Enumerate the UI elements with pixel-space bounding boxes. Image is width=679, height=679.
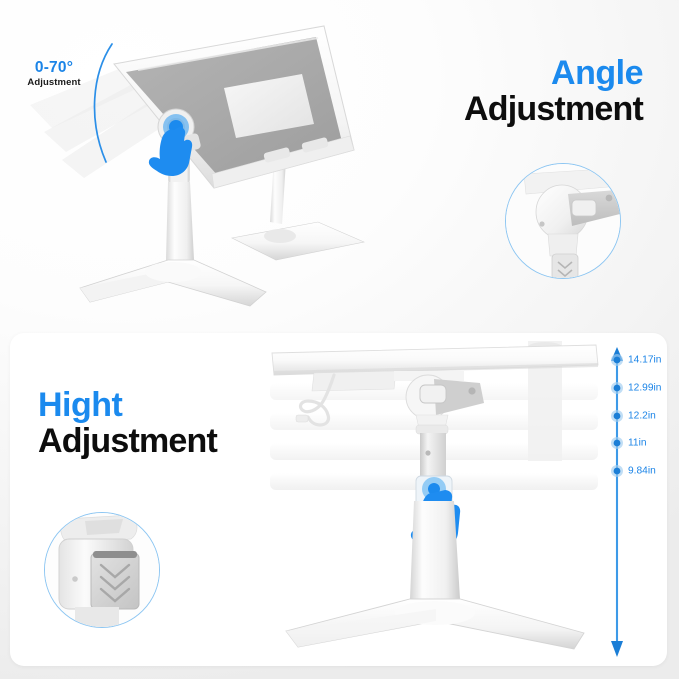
height-heading-accent: Hight — [38, 388, 217, 422]
scale-mark-dot — [606, 436, 628, 450]
scale-mark-label: 11in — [628, 438, 647, 449]
height-clamp-detail-photo — [44, 512, 160, 628]
scale-mark-label: 9.84in — [628, 465, 656, 476]
scale-mark-dot — [606, 409, 628, 423]
height-heading-main: Adjustment — [38, 424, 217, 458]
scale-mark-label: 14.17in — [628, 355, 661, 366]
scale-mark-dot — [606, 353, 628, 367]
scale-mark-dot — [606, 381, 628, 395]
height-adjustment-section: Hight Adjustment — [10, 333, 667, 666]
infographic-root: 0-70° Adjustment Angle Adjustment — [0, 0, 679, 679]
angle-range-label: 0-70° — [14, 60, 94, 76]
angle-heading-main: Adjustment — [464, 92, 643, 126]
height-measurement-scale: 14.17in12.99in12.2in11in9.84in — [606, 341, 667, 663]
angle-range-sublabel: Adjustment — [14, 78, 94, 88]
angle-heading-accent: Angle — [464, 56, 643, 90]
angle-range-callout: 0-70° Adjustment — [14, 60, 94, 88]
angle-adjustment-section: 0-70° Adjustment Angle Adjustment — [0, 0, 679, 332]
height-heading: Hight Adjustment — [38, 388, 217, 458]
scale-mark-label: 12.2in — [628, 410, 656, 421]
angle-heading: Angle Adjustment — [464, 56, 643, 126]
height-adjustable-stand-photo — [268, 341, 604, 661]
tilted-laptop-stand-photo — [18, 10, 378, 320]
scale-mark-dot — [606, 464, 628, 478]
scale-mark-label: 12.99in — [628, 383, 661, 394]
angle-hinge-detail-photo — [505, 163, 621, 279]
